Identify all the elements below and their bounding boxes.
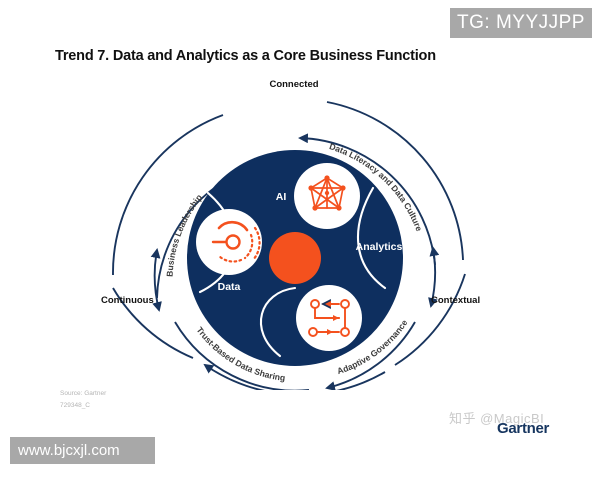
- cycle-diagram: AI Data: [95, 60, 505, 390]
- watermark-top-right: TG: MYYJJPP: [450, 8, 592, 38]
- node-ai-label: AI: [276, 191, 287, 203]
- node-data-label: Data: [218, 281, 241, 293]
- source-block: Source: Gartner 729348_C: [60, 388, 106, 412]
- outer-arc-right: [395, 274, 465, 365]
- watermark-url: www.bjcxjl.com: [10, 437, 155, 464]
- label-contextual: Contextual: [431, 295, 480, 306]
- gartner-logo: Gartner: [497, 420, 549, 437]
- label-connected: Connected: [269, 79, 318, 90]
- hub-orange-circle[interactable]: [269, 232, 321, 284]
- source-line-1: Source: Gartner: [60, 388, 106, 400]
- label-continuous: Continuous: [101, 295, 154, 306]
- node-analytics-label: Analytics: [356, 241, 403, 253]
- source-line-2: 729348_C: [60, 400, 106, 412]
- diagram-canvas: AI Data: [95, 60, 505, 390]
- outer-arc-bottom: [205, 365, 385, 390]
